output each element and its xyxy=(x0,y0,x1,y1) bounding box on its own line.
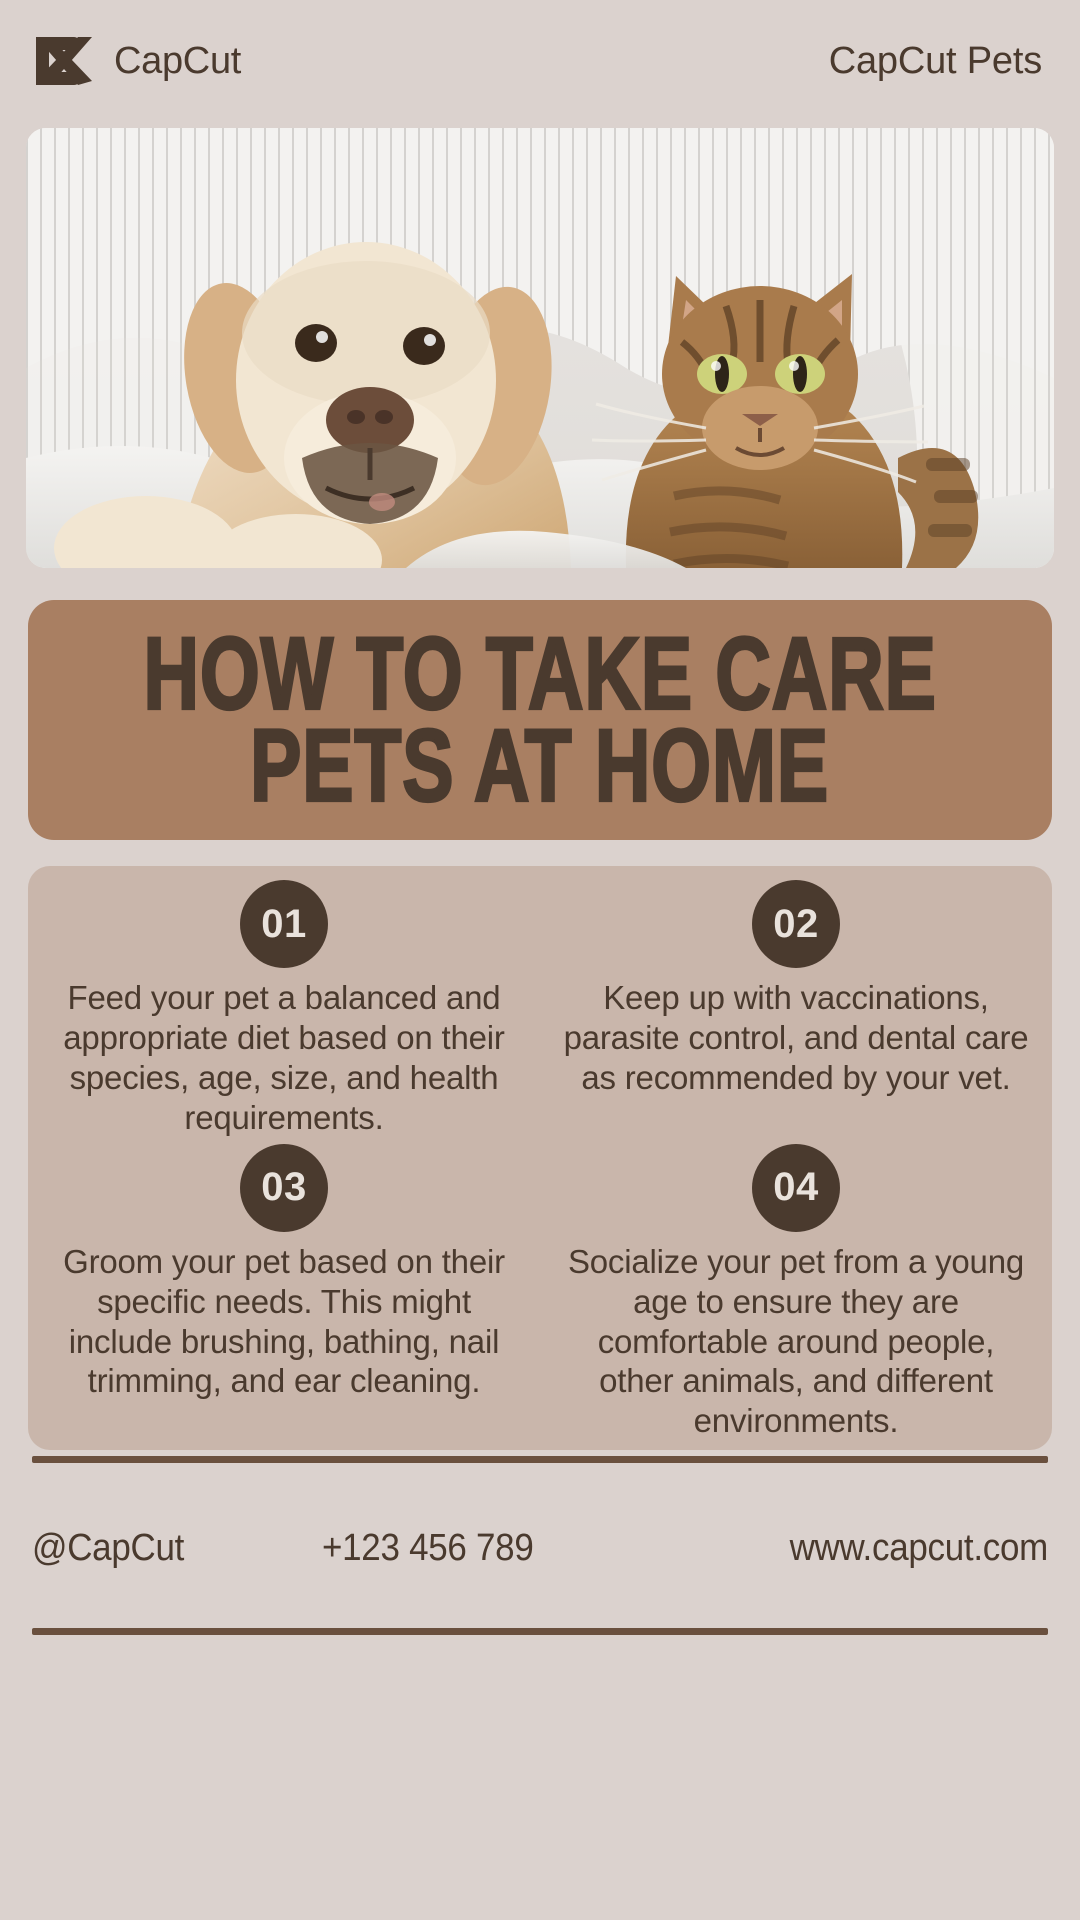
infographic-page: CapCut CapCut Pets xyxy=(0,0,1080,1920)
tip-number-badge-04: 04 xyxy=(752,1144,840,1232)
tip-number-badge-02: 02 xyxy=(752,880,840,968)
capcut-logo-icon xyxy=(28,33,100,89)
tip-text-02: Keep up with vaccinations, parasite cont… xyxy=(558,978,1034,1098)
tip-item-03: 03 Groom your pet based on their specifi… xyxy=(46,1144,522,1442)
title-banner: HOW TO TAKE CARE PETS AT HOME xyxy=(28,600,1052,840)
tip-text-03: Groom your pet based on their specific n… xyxy=(46,1242,522,1402)
footer-website[interactable]: www.capcut.com xyxy=(693,1527,1048,1570)
tip-text-01: Feed your pet a balanced and appropriate… xyxy=(46,978,522,1138)
brand-name: CapCut xyxy=(114,40,241,83)
tip-number-badge-03: 03 xyxy=(240,1144,328,1232)
footer-phone[interactable]: +123 456 789 xyxy=(322,1527,635,1570)
tip-item-01: 01 Feed your pet a balanced and appropri… xyxy=(46,880,522,1138)
footer-rule-top xyxy=(32,1456,1048,1463)
tips-panel: 01 Feed your pet a balanced and appropri… xyxy=(28,866,1052,1450)
tip-item-04: 04 Socialize your pet from a young age t… xyxy=(558,1144,1034,1442)
footer-rule-bottom xyxy=(32,1628,1048,1635)
hero-photo xyxy=(26,128,1054,568)
tip-number-badge-01: 01 xyxy=(240,880,328,968)
header: CapCut CapCut Pets xyxy=(0,0,1080,122)
title-line-2: PETS AT HOME xyxy=(250,716,829,816)
footer: @CapCut +123 456 789 www.capcut.com xyxy=(32,1478,1048,1618)
tip-item-02: 02 Keep up with vaccinations, parasite c… xyxy=(558,880,1034,1138)
brand: CapCut xyxy=(28,33,241,89)
header-right-label: CapCut Pets xyxy=(829,40,1042,83)
footer-social-handle[interactable]: @CapCut xyxy=(32,1527,299,1570)
tip-text-04: Socialize your pet from a young age to e… xyxy=(558,1242,1034,1442)
